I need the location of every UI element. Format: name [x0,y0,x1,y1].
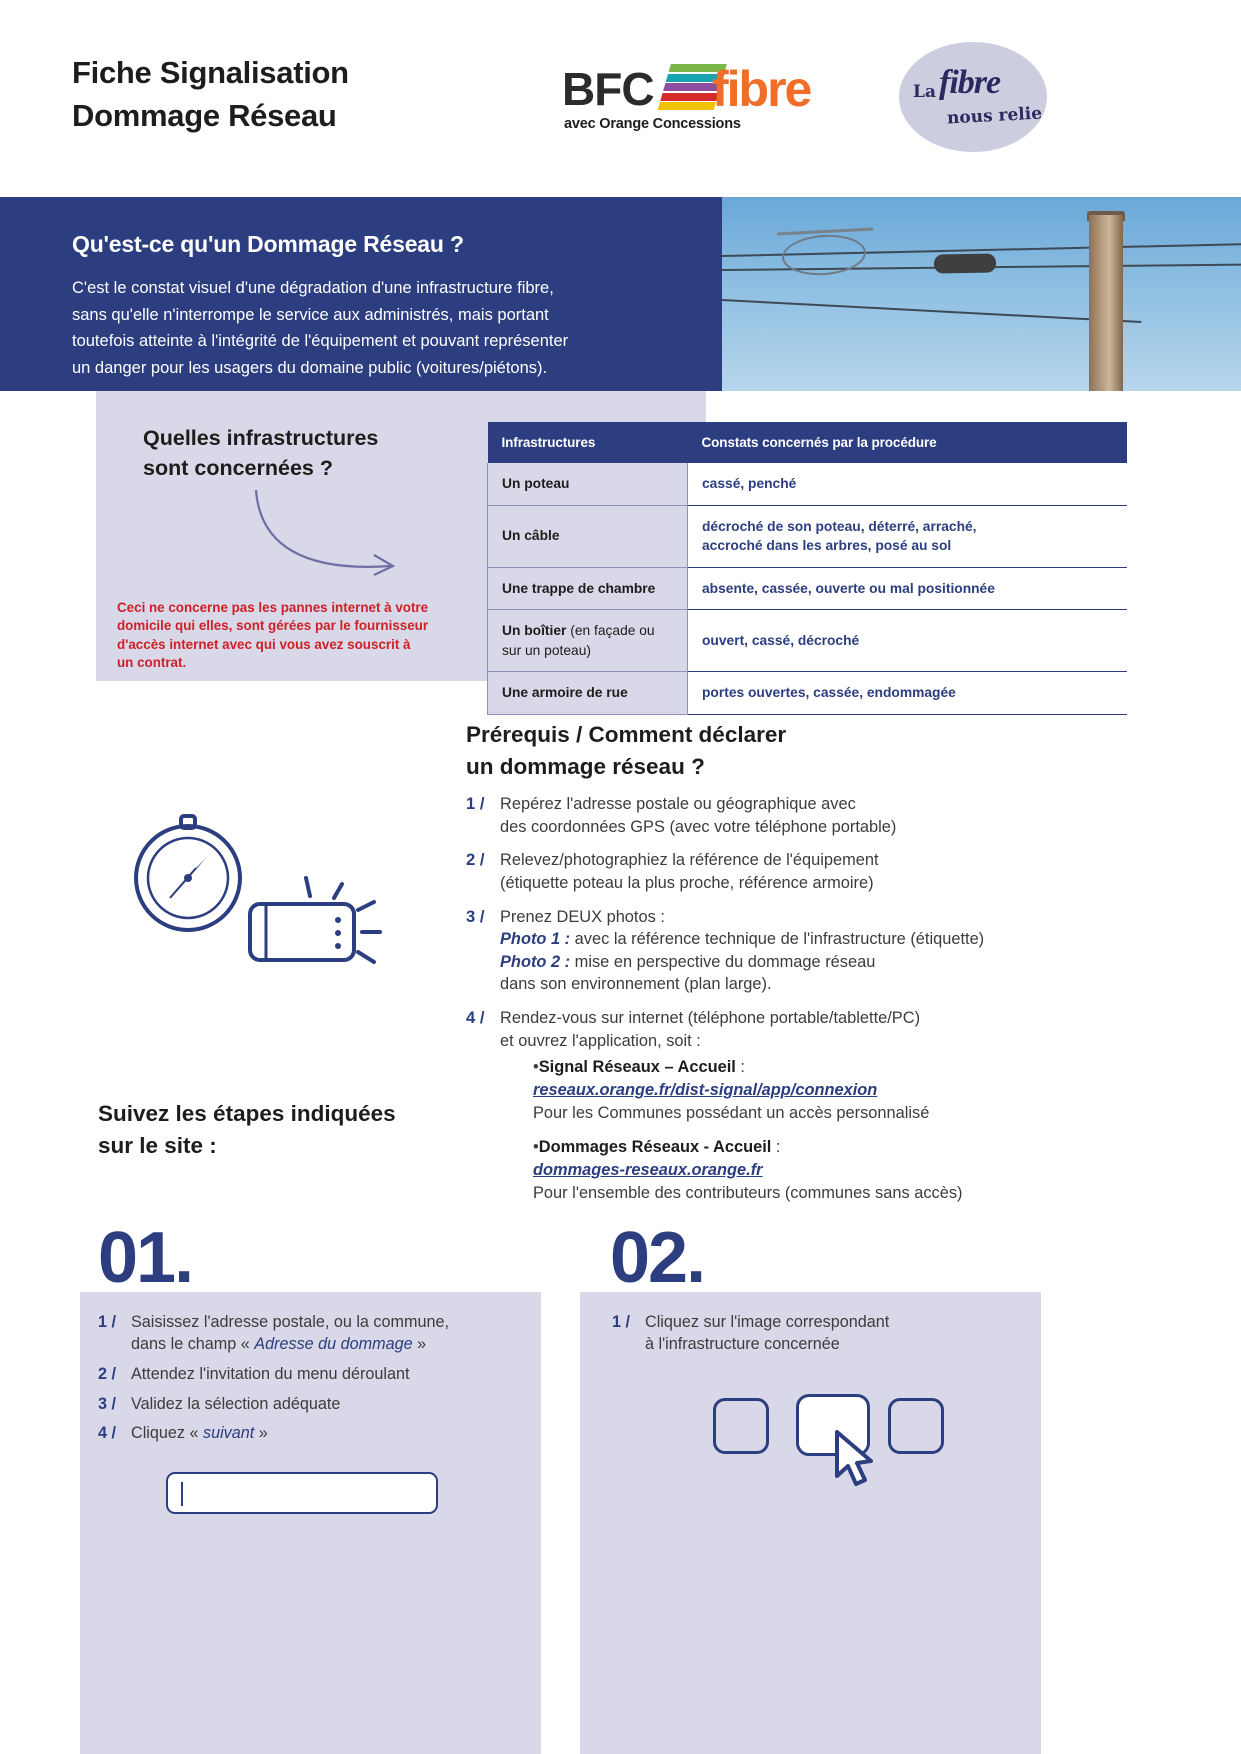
cell-constats: ouvert, cassé, décroché [688,610,1128,672]
panel-step-text: Saisissez l'adresse postale, ou la commu… [131,1312,449,1356]
cell-infrastructure-name: Un câble [488,505,688,567]
banner-title: Qu'est-ce qu'un Dommage Réseau ? [72,231,464,258]
step-number: 2 / [466,849,500,894]
text-caret [181,1482,183,1506]
table-row: Un câbledécroché de son poteau, déterré,… [488,505,1128,567]
link-heading: •Signal Réseaux – Accueil : [533,1056,1093,1078]
photo-description: avec la référence technique de l'infrast… [570,930,984,948]
panel-01-items: 1 /Saisissez l'adresse postale, ou la co… [98,1312,498,1453]
cell-infrastructure-name: Une trappe de chambre [488,567,688,610]
address-input-mock[interactable] [166,1472,438,1514]
panel-step-number: 3 / [98,1394,131,1416]
link-title: Dommages Réseaux - Accueil [539,1138,772,1156]
cell-constats: décroché de son poteau, déterré, arraché… [688,505,1128,567]
table-header-row: Infrastructures Constats concernés par l… [488,422,1128,463]
panel-step-text-suffix: » [254,1424,268,1442]
page-title: Fiche Signalisation Dommage Réseau [72,52,349,138]
link-subtitle: Pour les Communes possédant un accès per… [533,1102,1093,1124]
panel-step-item: 2 /Attendez l'invitation du menu déroula… [98,1364,498,1386]
bfc-logo-text: BFC [562,62,654,116]
panel-step-number: 1 / [98,1312,131,1356]
panel-02-items: 1 /Cliquez sur l'image correspondant à l… [612,1312,1012,1364]
table-row: Un poteaucassé, penché [488,463,1128,505]
table-row: Une trappe de chambreabsente, cassée, ou… [488,567,1128,610]
infrastructures-table: Infrastructures Constats concernés par l… [487,422,1127,715]
suivez-heading: Suivez les étapes indiquées sur le site … [98,1098,498,1162]
panel-step-emphasis: Adresse du dommage [254,1335,412,1353]
bfc-logo-tagline: avec Orange Concessions [564,116,741,132]
step-text: Repérez l'adresse postale ou géographiqu… [500,793,896,838]
photo-label: Photo 2 : [500,953,570,971]
prerequis-step: 2 /Relevez/photographiez la référence de… [466,849,1066,894]
panel-step-item: 1 /Saisissez l'adresse postale, ou la co… [98,1312,498,1356]
panel-step-item: 4 /Cliquez « suivant » [98,1423,498,1445]
infrastructures-section: Quelles infrastructures sont concernées … [0,391,1241,699]
step-number: 4 / [466,1007,500,1052]
infrastructures-heading: Quelles infrastructures sont concernées … [143,424,473,483]
step-text: Relevez/photographiez la référence de l'… [500,849,879,894]
panel-step-text: Attendez l'invitation du menu déroulant [131,1364,409,1386]
link-colon: : [736,1058,745,1076]
cell-constats: cassé, penché [688,463,1128,505]
step-number: 1 / [466,793,500,838]
la-fibre-nous-relie-logo: La fibre nous relie [899,42,1047,152]
link-subtitle: Pour l'ensemble des contributeurs (commu… [533,1182,1093,1204]
application-link-block: •Dommages Réseaux - Accueil :dommages-re… [533,1136,1093,1204]
panel-step-text-suffix: » [413,1335,427,1353]
choice-option-1[interactable] [713,1398,769,1454]
logo-fibre-script-text: fibre [939,64,1000,102]
internet-outage-warning: Ceci ne concerne pas les pannes internet… [117,599,447,672]
cell-constats: portes ouvertes, cassée, endommagée [688,672,1128,715]
panel-step-item: 3 /Validez la sélection adéquate [98,1394,498,1416]
step-text: Prenez DEUX photos :Photo 1 : avec la ré… [500,906,984,997]
page-header: Fiche Signalisation Dommage Réseau BFC f… [0,0,1241,186]
logo-bar-segment [660,93,718,101]
prerequis-step: 1 /Repérez l'adresse postale ou géograph… [466,793,1066,838]
prerequis-step: 3 /Prenez DEUX photos :Photo 1 : avec la… [466,906,1066,997]
curved-arrow-icon [250,486,420,586]
photo-label: Photo 1 : [500,930,570,948]
panel-step-text: Cliquez sur l'image correspondant à l'in… [645,1312,889,1356]
table-row: Une armoire de rueportes ouvertes, cassé… [488,672,1128,715]
cell-infrastructure-name: Une armoire de rue [488,672,688,715]
choice-option-3[interactable] [888,1398,944,1454]
panel-step-text: Validez la sélection adéquate [131,1394,340,1416]
fibre-logo-text: fibre [712,60,810,118]
banner-body-text: C'est le constat visuel d'une dégradatio… [72,275,692,382]
cable-loop-shape [781,232,868,278]
panel-step-number: 1 / [612,1312,645,1356]
infrastructure-choice-icons [713,1398,943,1518]
column-header-constats: Constats concernés par la procédure [688,422,1128,463]
link-url[interactable]: reseaux.orange.fr/dist-signal/app/connex… [533,1079,877,1101]
cable-canister-shape [934,253,996,273]
utility-pole-shape [1089,215,1123,391]
panel-step-text: Cliquez « suivant » [131,1423,268,1445]
step-number-02: 02. [610,1222,704,1294]
cell-infrastructure-note: (en façade ou sur un poteau) [502,623,655,658]
application-links-list: •Signal Réseaux – Accueil :reseaux.orang… [533,1056,1093,1216]
compass-and-phone-illustration [110,800,390,990]
panel-step-number: 2 / [98,1364,131,1386]
table-row: Un boîtier (en façade ou sur un poteau)o… [488,610,1128,672]
panel-step-item: 1 /Cliquez sur l'image correspondant à l… [612,1312,1012,1356]
prerequis-title: Prérequis / Comment déclarer un dommage … [466,719,986,782]
cell-infrastructure-name: Un boîtier (en façade ou sur un poteau) [488,610,688,672]
step-number: 3 / [466,906,500,997]
link-url[interactable]: dommages-reseaux.orange.fr [533,1159,763,1181]
definition-banner: Qu'est-ce qu'un Dommage Réseau ? C'est l… [0,197,1241,391]
panel-step-number: 4 / [98,1423,131,1445]
panel-step-emphasis: suivant [203,1424,254,1442]
logo-la-text: La [913,82,936,102]
link-title: Signal Réseaux – Accueil [539,1058,736,1076]
column-header-infrastructures: Infrastructures [488,422,688,463]
logo-bar-segment [658,102,716,110]
prerequis-steps-list: 1 /Repérez l'adresse postale ou géograph… [466,793,1066,1063]
step-text: Rendez-vous sur internet (téléphone port… [500,1007,920,1052]
cell-constats: absente, cassée, ouverte ou mal position… [688,567,1128,610]
wire-line [722,299,1141,322]
mouse-cursor-icon [833,1430,875,1488]
cell-infrastructure-name: Un poteau [488,463,688,505]
link-colon: : [771,1138,780,1156]
pole-photo [722,197,1241,391]
bfc-fibre-logo: BFC fibre avec Orange Concessions [562,62,862,142]
link-heading: •Dommages Réseaux - Accueil : [533,1136,1093,1158]
prerequis-step: 4 /Rendez-vous sur internet (téléphone p… [466,1007,1066,1052]
application-link-block: •Signal Réseaux – Accueil :reseaux.orang… [533,1056,1093,1124]
step-number-01: 01. [98,1222,192,1294]
